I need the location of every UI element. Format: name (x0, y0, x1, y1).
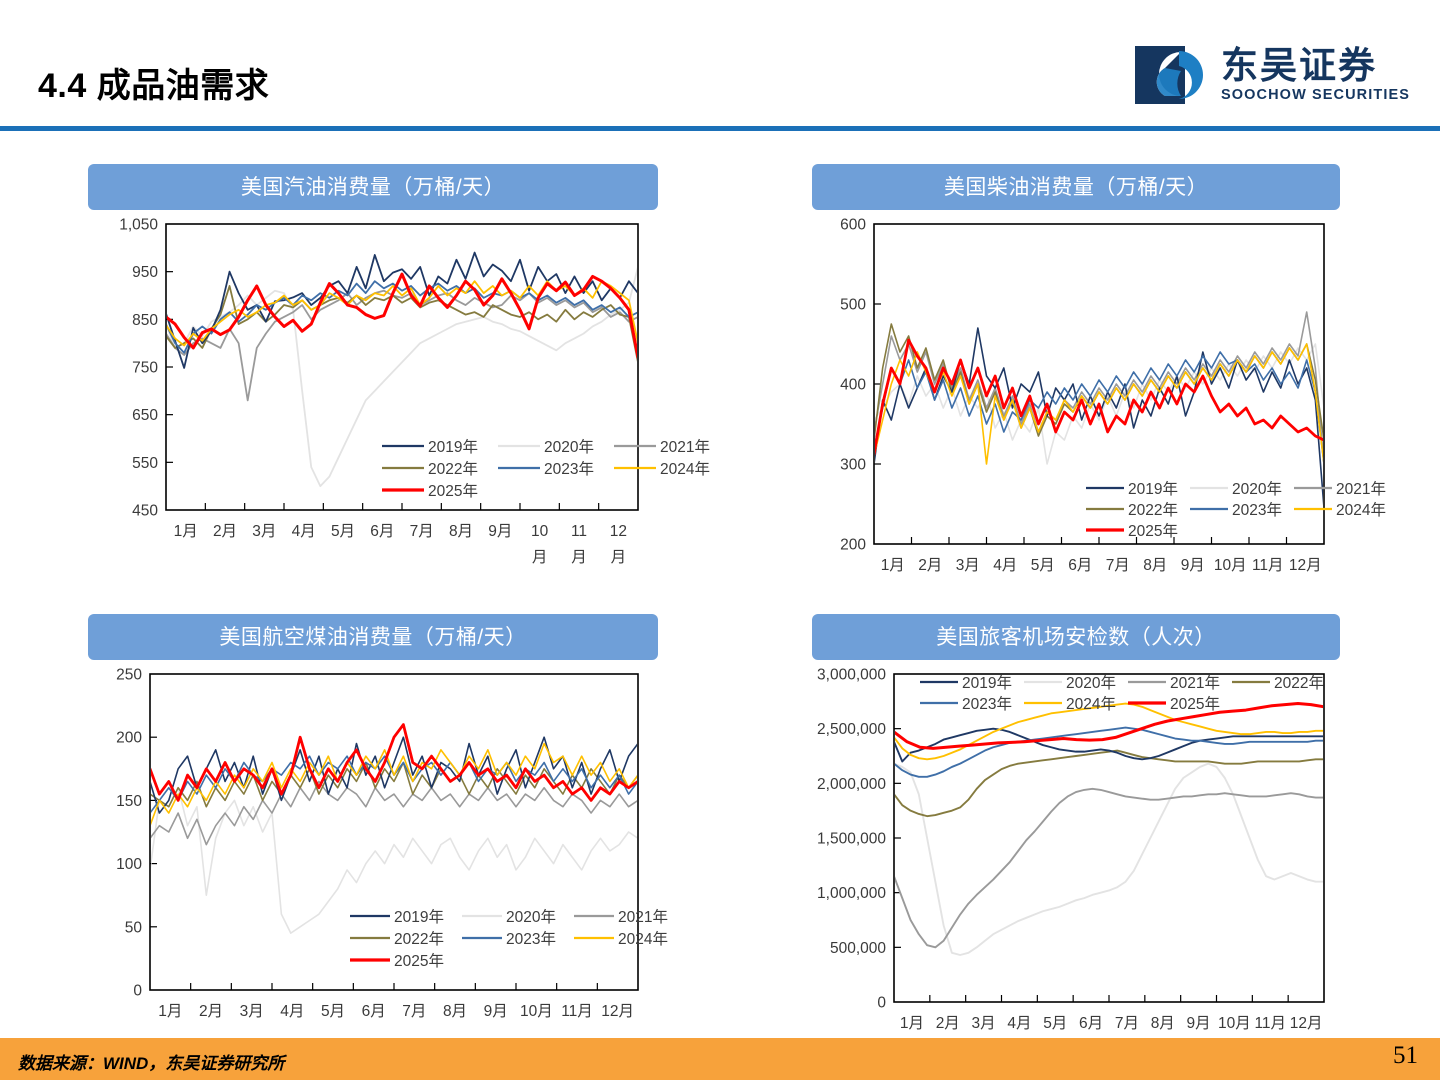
x-axis-tick-label: 12月 (1290, 1015, 1323, 1032)
legend-label-2020年: 2020年 (1066, 674, 1116, 692)
soochow-s-mark-icon (1135, 46, 1211, 104)
legend-label-2020年: 2020年 (1232, 480, 1282, 498)
chart-panel-gasoline: 美国汽油消费量（万桶/天） 4505506507508509501,0501月2… (88, 164, 658, 610)
x-axis-tick-label: 2月 (918, 557, 942, 574)
x-axis-tick-label: 7月 (410, 523, 434, 540)
line-chart-jetfuel: 0501001502002501月2月3月4月5月6月7月8月9月10月11月1… (88, 660, 658, 1050)
y-axis-tick-label: 950 (132, 264, 158, 281)
x-axis-tick-label: 2月 (213, 523, 237, 540)
plot-frame (894, 674, 1324, 1002)
chart-title-jetfuel: 美国航空煤油消费量（万桶/天） (88, 614, 658, 660)
x-axis-tick-label: 12 (610, 523, 627, 540)
chart-panel-tsa: 美国旅客机场安检数（人次） 0500,0001,000,0001,500,000… (812, 614, 1340, 1050)
x-axis-tick-label: 9月 (488, 523, 512, 540)
x-axis-tick-label: 9月 (484, 1003, 508, 1020)
x-axis-tick-label: 10月 (1218, 1015, 1251, 1032)
y-axis-tick-label: 550 (132, 455, 158, 472)
x-axis-tick-label: 12月 (1289, 557, 1322, 574)
logo-text: 东吴证券 SOOCHOW SECURITIES (1221, 47, 1410, 103)
y-axis-tick-label: 500,000 (830, 940, 886, 957)
logo-english-name: SOOCHOW SECURITIES (1221, 87, 1410, 103)
x-axis-tick-label: 10月 (1214, 557, 1247, 574)
data-series-2022年 (894, 751, 1324, 817)
x-axis-tick-label: 3月 (240, 1003, 264, 1020)
y-axis-tick-label: 650 (132, 407, 158, 424)
page-number: 51 (1393, 1042, 1418, 1070)
chart-area-tsa: 0500,0001,000,0001,500,0002,000,0002,500… (812, 660, 1340, 1050)
y-axis-tick-label: 850 (132, 312, 158, 329)
series-group (894, 704, 1324, 955)
x-axis-tick-label: 3月 (252, 523, 276, 540)
x-axis-tick-label: 5月 (1043, 1015, 1067, 1032)
x-axis-tick-label: 8月 (449, 523, 473, 540)
line-chart-tsa: 0500,0001,000,0001,500,0002,000,0002,500… (812, 660, 1340, 1050)
x-axis-tick-label: 6月 (370, 523, 394, 540)
y-axis-tick-label: 400 (840, 377, 866, 394)
legend-label-2021年: 2021年 (1336, 480, 1386, 498)
x-axis-tick-label: 8月 (1151, 1015, 1175, 1032)
y-axis-tick-label: 50 (125, 919, 143, 936)
data-series-2021年 (874, 312, 1324, 464)
legend-label-2019年: 2019年 (1128, 480, 1178, 498)
chart-area-jetfuel: 0501001502002501月2月3月4月5月6月7月8月9月10月11月1… (88, 660, 658, 1050)
legend-label-2022年: 2022年 (394, 930, 444, 948)
x-axis-tick-label: 4月 (280, 1003, 304, 1020)
logo-chinese-name: 东吴证券 (1221, 47, 1410, 84)
legend-label-2023年: 2023年 (544, 460, 594, 478)
y-axis-tick-label: 100 (116, 856, 142, 873)
x-axis-tick-label: 7月 (1115, 1015, 1139, 1032)
y-axis-tick-label: 600 (840, 217, 866, 234)
x-axis-tick-label: 11月 (561, 1003, 593, 1020)
legend-label-2022年: 2022年 (1128, 501, 1178, 519)
x-axis-tick-label: 4月 (1007, 1015, 1031, 1032)
legend-label-2024年: 2024年 (618, 930, 668, 948)
legend-label-2021年: 2021年 (618, 908, 668, 926)
y-axis-tick-label: 150 (116, 793, 142, 810)
x-axis-tick-label: 10 (531, 523, 549, 540)
chart-title-diesel: 美国柴油消费量（万桶/天） (812, 164, 1340, 210)
chart-legend: 2019年2020年2021年2022年2023年2024年2025年 (1086, 480, 1386, 540)
legend-label-2021年: 2021年 (660, 438, 710, 456)
y-axis-tick-label: 250 (116, 667, 142, 684)
legend-label-2024年: 2024年 (1336, 501, 1386, 519)
legend-label-2025年: 2025年 (1128, 522, 1178, 540)
y-axis-tick-label: 1,000,000 (817, 885, 886, 902)
chart-legend: 2019年2020年2021年2022年2023年2024年2025年 (382, 438, 710, 500)
y-axis-tick-label: 2,000,000 (817, 776, 886, 793)
legend-label-2025年: 2025年 (394, 952, 444, 970)
x-axis-tick-label: 9月 (1187, 1015, 1211, 1032)
x-axis-tick-label: 11月 (1254, 1015, 1286, 1032)
x-axis-tick-label: 2月 (199, 1003, 223, 1020)
x-axis-tick-label: 7月 (402, 1003, 426, 1020)
x-axis-tick-label: 12月 (601, 1003, 634, 1020)
x-axis-tick-label: 6月 (1068, 557, 1092, 574)
legend-label-2022年: 2022年 (428, 460, 478, 478)
x-axis-tick-label: 11月 (1252, 557, 1284, 574)
chart-area-diesel: 2003004005006001月2月3月4月5月6月7月8月9月10月11月1… (812, 210, 1340, 610)
chart-panel-jetfuel: 美国航空煤油消费量（万桶/天） 0501001502002501月2月3月4月5… (88, 614, 658, 1050)
x-axis-tick-label: 11 (571, 523, 587, 540)
series-group (874, 312, 1324, 508)
legend-label-2023年: 2023年 (1232, 501, 1282, 519)
x-axis-tick-label: 6月 (362, 1003, 386, 1020)
slide-footer: 数据来源：WIND，东吴证券研究所 51 (0, 1038, 1440, 1080)
y-axis-tick-label: 200 (116, 730, 142, 747)
legend-label-2019年: 2019年 (962, 674, 1012, 692)
legend-label-2019年: 2019年 (394, 908, 444, 926)
company-logo: 东吴证券 SOOCHOW SECURITIES (1135, 44, 1410, 106)
y-axis-tick-label: 300 (840, 457, 866, 474)
series-group (150, 725, 638, 934)
x-axis-tick-label: 8月 (1143, 557, 1167, 574)
y-axis-tick-label: 750 (132, 360, 158, 377)
y-axis-tick-label: 0 (877, 995, 886, 1012)
x-axis-tick-label: 3月 (956, 557, 980, 574)
legend-label-2020年: 2020年 (544, 438, 594, 456)
x-axis-tick-label: 2月 (936, 1015, 960, 1032)
line-chart-gasoline: 4505506507508509501,0501月2月3月4月5月6月7月8月9… (88, 210, 658, 610)
legend-label-2023年: 2023年 (962, 695, 1012, 713)
chart-area-gasoline: 4505506507508509501,0501月2月3月4月5月6月7月8月9… (88, 210, 658, 610)
legend-label-2021年: 2021年 (1170, 674, 1220, 692)
chart-legend: 2019年2020年2021年2022年2023年2024年2025年 (350, 908, 668, 970)
x-axis-tick-label: 月 (532, 549, 548, 566)
x-axis-tick-label: 1月 (158, 1003, 182, 1020)
legend-label-2022年: 2022年 (1274, 674, 1324, 692)
chart-title-tsa: 美国旅客机场安检数（人次） (812, 614, 1340, 660)
x-axis-tick-label: 3月 (972, 1015, 996, 1032)
x-axis-tick-label: 4月 (993, 557, 1017, 574)
y-axis-tick-label: 200 (840, 537, 866, 554)
legend-label-2025年: 2025年 (428, 482, 478, 500)
x-axis-tick-label: 5月 (321, 1003, 345, 1020)
y-axis-tick-label: 500 (840, 297, 866, 314)
data-series-2021年 (894, 789, 1324, 948)
legend-label-2023年: 2023年 (506, 930, 556, 948)
y-axis-tick-label: 1,500,000 (817, 831, 886, 848)
y-axis-tick-label: 0 (133, 983, 142, 1000)
chart-title-gasoline: 美国汽油消费量（万桶/天） (88, 164, 658, 210)
x-axis-tick-label: 1月 (881, 557, 905, 574)
x-axis-tick-label: 5月 (331, 523, 355, 540)
x-axis-tick-label: 6月 (1079, 1015, 1103, 1032)
legend-label-2020年: 2020年 (506, 908, 556, 926)
y-axis-tick-label: 3,000,000 (817, 667, 886, 684)
x-axis-tick-label: 1月 (174, 523, 198, 540)
legend-label-2019年: 2019年 (428, 438, 478, 456)
chart-panel-diesel: 美国柴油消费量（万桶/天） 2003004005006001月2月3月4月5月6… (812, 164, 1340, 610)
legend-label-2024年: 2024年 (1066, 695, 1116, 713)
legend-label-2025年: 2025年 (1170, 695, 1220, 713)
x-axis-tick-label: 1月 (900, 1015, 924, 1032)
x-axis-tick-label: 5月 (1031, 557, 1055, 574)
x-axis-tick-label: 7月 (1106, 557, 1130, 574)
legend-label-2024年: 2024年 (660, 460, 710, 478)
y-axis-tick-label: 1,050 (119, 217, 158, 234)
x-axis-tick-label: 4月 (292, 523, 316, 540)
x-axis-tick-label: 9月 (1181, 557, 1205, 574)
page-title: 4.4 成品油需求 (38, 58, 269, 107)
line-chart-diesel: 2003004005006001月2月3月4月5月6月7月8月9月10月11月1… (812, 210, 1340, 610)
y-axis-tick-label: 450 (132, 503, 158, 520)
x-axis-tick-label: 10月 (520, 1003, 553, 1020)
x-axis-tick-label: 月 (571, 549, 587, 566)
data-source-note: 数据来源：WIND，东吴证券研究所 (18, 1049, 284, 1074)
slide-header: 4.4 成品油需求 东吴证券 SOOCHOW SECURITIES (0, 0, 1440, 133)
y-axis-tick-label: 2,500,000 (817, 721, 886, 738)
header-divider (0, 126, 1440, 131)
x-axis-tick-label: 月 (611, 549, 627, 566)
x-axis-tick-label: 8月 (443, 1003, 467, 1020)
